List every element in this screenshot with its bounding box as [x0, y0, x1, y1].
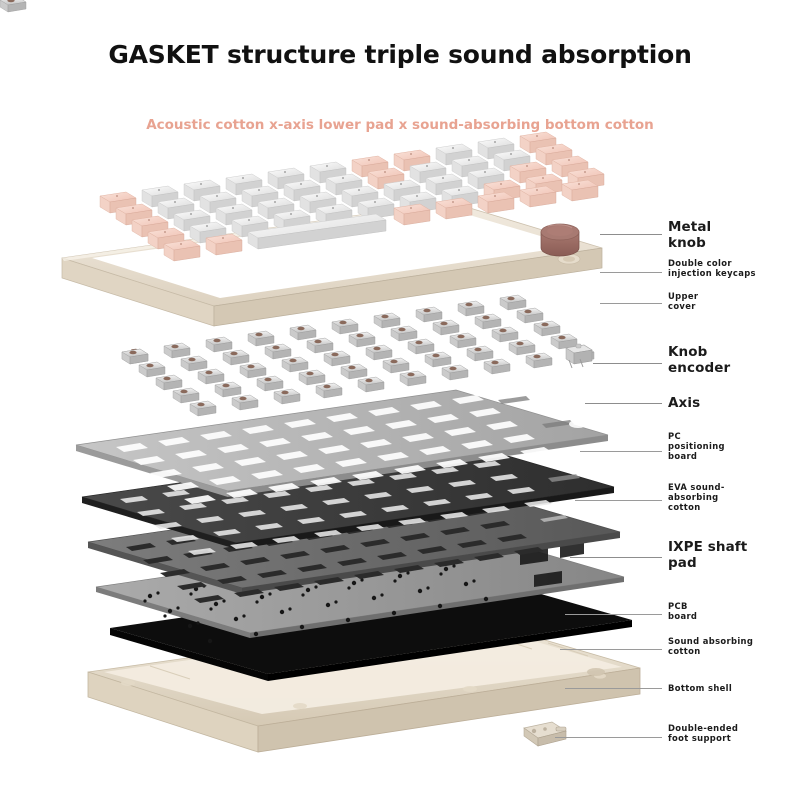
- leader-line-upper-cover: [600, 303, 662, 304]
- callout-eva-cotton: EVA sound- absorbing cotton: [668, 483, 725, 513]
- leader-line-foot-support: [555, 737, 662, 738]
- leader-line-knob-encoder: [593, 363, 662, 364]
- metal-knob: [541, 224, 579, 256]
- callout-upper-cover: Upper cover: [668, 292, 698, 312]
- callout-metal-knob: Metal knob: [668, 220, 711, 252]
- leader-line-keycaps: [600, 272, 662, 273]
- callout-sound-absorbing-cotton: Sound absorbing cotton: [668, 637, 753, 657]
- leader-line-sound-absorbing-cotton: [560, 649, 662, 650]
- knob-encoder-module: [566, 344, 592, 368]
- leader-line-metal-knob: [600, 234, 662, 235]
- callout-ixpe-shaft-pad: IXPE shaft pad: [668, 540, 747, 572]
- callout-pc-positioning-board: PC positioning board: [668, 432, 725, 462]
- callout-keycaps: Double color injection keycaps: [668, 259, 756, 279]
- leader-line-pc-positioning-board: [580, 451, 662, 452]
- leader-line-bottom-shell: [565, 688, 662, 689]
- leader-line-ixpe-shaft-pad: [570, 557, 662, 558]
- callout-axis: Axis: [668, 396, 700, 412]
- callout-foot-support: Double-ended foot support: [668, 724, 738, 744]
- leader-line-eva-cotton: [575, 500, 662, 501]
- callout-bottom-shell: Bottom shell: [668, 684, 732, 694]
- diagram-page: GASKET structure triple sound absorption…: [0, 0, 800, 800]
- layer-foot-support: [524, 722, 566, 746]
- leader-line-axis: [585, 403, 662, 404]
- callout-pcb-board: PCB board: [668, 602, 697, 622]
- leader-line-pcb-board: [565, 614, 662, 615]
- callout-knob-encoder: Knob encoder: [668, 345, 730, 377]
